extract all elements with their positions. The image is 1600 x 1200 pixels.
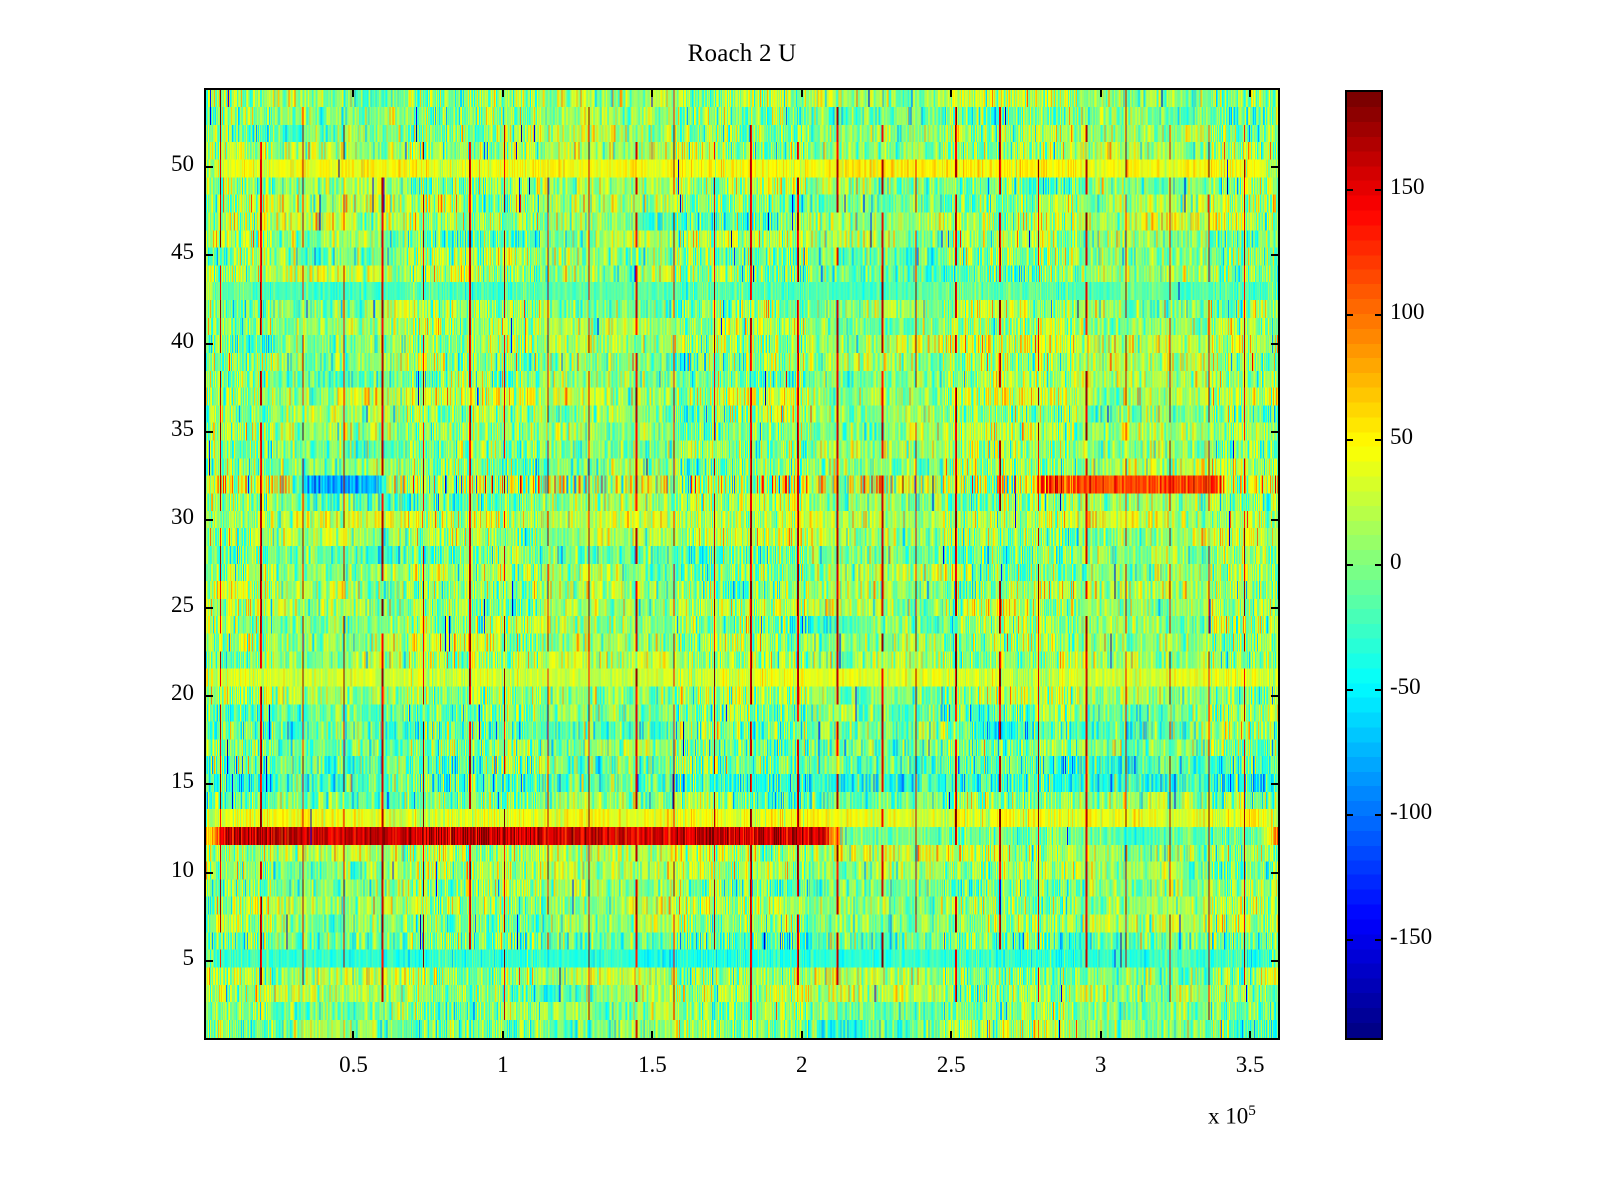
x-axis-tick-mark [950, 1031, 952, 1040]
y-axis-tick-label: 30 [126, 504, 194, 530]
colorbar-tick-mark-left [1345, 814, 1353, 816]
x-exponent-power: 5 [1248, 1102, 1256, 1119]
colorbar-tick-mark-right [1375, 439, 1383, 441]
y-axis-tick-mark-right [1271, 872, 1280, 874]
x-axis-tick-label: 1.5 [602, 1052, 702, 1078]
x-axis-tick-mark [801, 1031, 803, 1040]
x-axis-tick-mark [651, 1031, 653, 1040]
x-axis-tick-label: 1 [453, 1052, 553, 1078]
x-axis-tick-mark-top [651, 88, 653, 97]
y-axis-tick-mark-right [1271, 695, 1280, 697]
colorbar-tick-mark-left [1345, 439, 1353, 441]
y-axis-tick-mark [204, 431, 213, 433]
y-axis-tick-label: 40 [126, 328, 194, 354]
x-axis-tick-mark [1249, 1031, 1251, 1040]
y-axis-tick-mark-right [1271, 519, 1280, 521]
y-axis-tick-mark [204, 783, 213, 785]
colorbar-tick-label: 0 [1390, 549, 1402, 575]
y-axis-tick-mark-right [1271, 783, 1280, 785]
x-axis-tick-mark-top [352, 88, 354, 97]
x-axis-tick-mark [352, 1031, 354, 1040]
colorbar-tick-mark-left [1345, 314, 1353, 316]
x-axis-tick-mark [1100, 1031, 1102, 1040]
colorbar-tick-mark-right [1375, 564, 1383, 566]
x-axis-tick-mark [502, 1031, 504, 1040]
y-axis-tick-mark [204, 960, 213, 962]
heatmap-image [206, 90, 1278, 1038]
x-exponent-base: x 10 [1208, 1104, 1248, 1129]
colorbar-tick-label: 50 [1390, 424, 1413, 450]
colorbar-tick-label: 100 [1390, 299, 1425, 325]
x-axis-tick-label: 0.5 [303, 1052, 403, 1078]
colorbar-tick-label: 150 [1390, 174, 1425, 200]
x-axis-tick-mark-top [950, 88, 952, 97]
y-axis-tick-mark-right [1271, 254, 1280, 256]
y-axis-tick-mark-right [1271, 960, 1280, 962]
y-axis-tick-mark [204, 695, 213, 697]
y-axis-tick-label: 5 [126, 945, 194, 971]
y-axis-tick-mark-right [1271, 607, 1280, 609]
heatmap-plot-area[interactable] [204, 88, 1280, 1040]
y-axis-tick-label: 10 [126, 857, 194, 883]
colorbar-tick-mark-left [1345, 689, 1353, 691]
y-axis-tick-mark-right [1271, 343, 1280, 345]
y-axis-tick-label: 50 [126, 151, 194, 177]
x-axis-tick-mark-top [502, 88, 504, 97]
y-axis-tick-mark [204, 872, 213, 874]
colorbar-tick-mark-left [1345, 939, 1353, 941]
colorbar-tick-mark-right [1375, 814, 1383, 816]
y-axis-tick-mark [204, 519, 213, 521]
colorbar-tick-label: -50 [1390, 674, 1421, 700]
x-axis-tick-label: 2 [752, 1052, 852, 1078]
x-axis-tick-mark-top [1100, 88, 1102, 97]
x-axis-exponent-label: x 105 [1208, 1102, 1256, 1130]
y-axis-tick-label: 15 [126, 768, 194, 794]
colorbar-tick-mark-right [1375, 314, 1383, 316]
y-axis-tick-mark-right [1271, 431, 1280, 433]
colorbar-tick-mark-left [1345, 189, 1353, 191]
colorbar-tick-mark-right [1375, 939, 1383, 941]
x-axis-tick-mark-top [801, 88, 803, 97]
x-axis-tick-mark-top [1249, 88, 1251, 97]
colorbar-tick-mark-left [1345, 564, 1353, 566]
y-axis-tick-mark [204, 166, 213, 168]
x-axis-tick-label: 3 [1051, 1052, 1151, 1078]
colorbar-tick-mark-right [1375, 689, 1383, 691]
x-axis-tick-label: 3.5 [1200, 1052, 1300, 1078]
y-axis-tick-mark [204, 254, 213, 256]
page-title: Roach 2 U [204, 40, 1280, 68]
y-axis-tick-mark [204, 343, 213, 345]
y-axis-tick-label: 25 [126, 592, 194, 618]
colorbar-tick-mark-right [1375, 189, 1383, 191]
y-axis-tick-mark [204, 607, 213, 609]
y-axis-tick-label: 45 [126, 239, 194, 265]
y-axis-tick-label: 20 [126, 680, 194, 706]
colorbar-tick-label: -150 [1390, 924, 1432, 950]
y-axis-tick-mark-right [1271, 166, 1280, 168]
y-axis-tick-label: 35 [126, 416, 194, 442]
x-axis-tick-label: 2.5 [901, 1052, 1001, 1078]
matlab-figure: Roach 2 U 5101520253035404550 0.511.522.… [0, 0, 1600, 1200]
colorbar-tick-label: -100 [1390, 799, 1432, 825]
